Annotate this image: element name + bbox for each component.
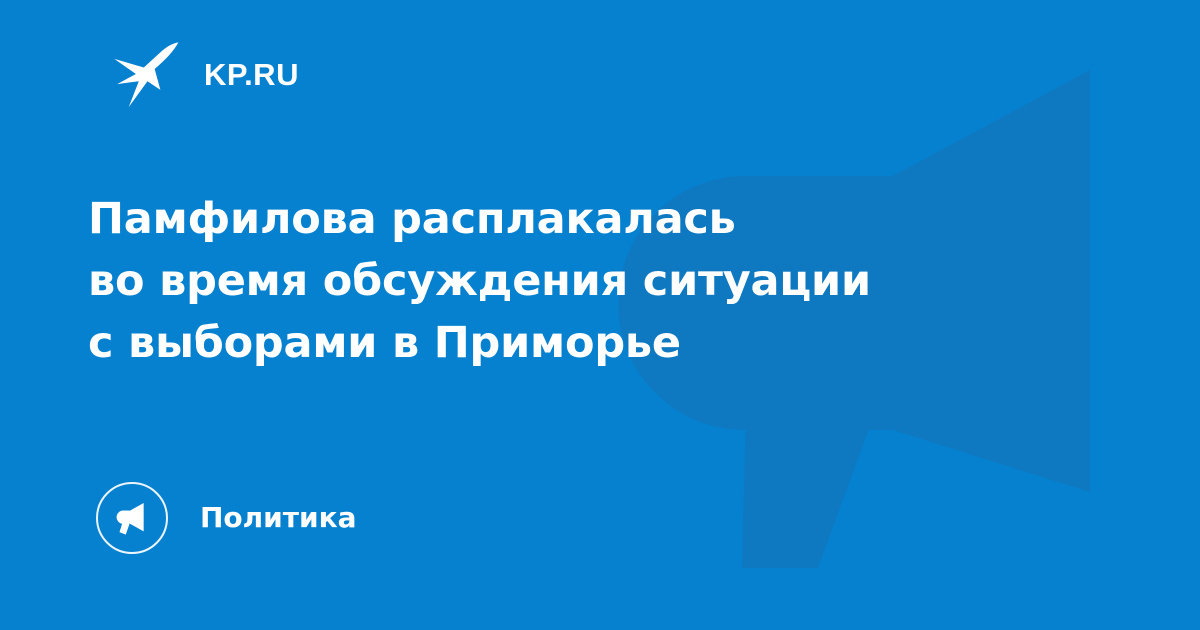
category-badge[interactable]: Политика <box>96 482 357 554</box>
brand-name: KP.RU <box>204 59 299 90</box>
page-title: Памфилова расплакалась во время обсужден… <box>88 188 1048 374</box>
brand-logo[interactable]: KP.RU <box>110 38 299 110</box>
category-label: Политика <box>200 504 357 532</box>
headline-line-2: во время обсуждения ситуации <box>88 250 1048 312</box>
category-icon-circle <box>96 482 168 554</box>
swallow-bird-icon <box>110 38 182 110</box>
social-share-card: KP.RU Памфилова расплакалась во время об… <box>0 0 1200 630</box>
headline-line-1: Памфилова расплакалась <box>88 188 1048 250</box>
megaphone-icon <box>112 498 152 538</box>
headline-line-3: с выборами в Приморье <box>88 312 1048 374</box>
